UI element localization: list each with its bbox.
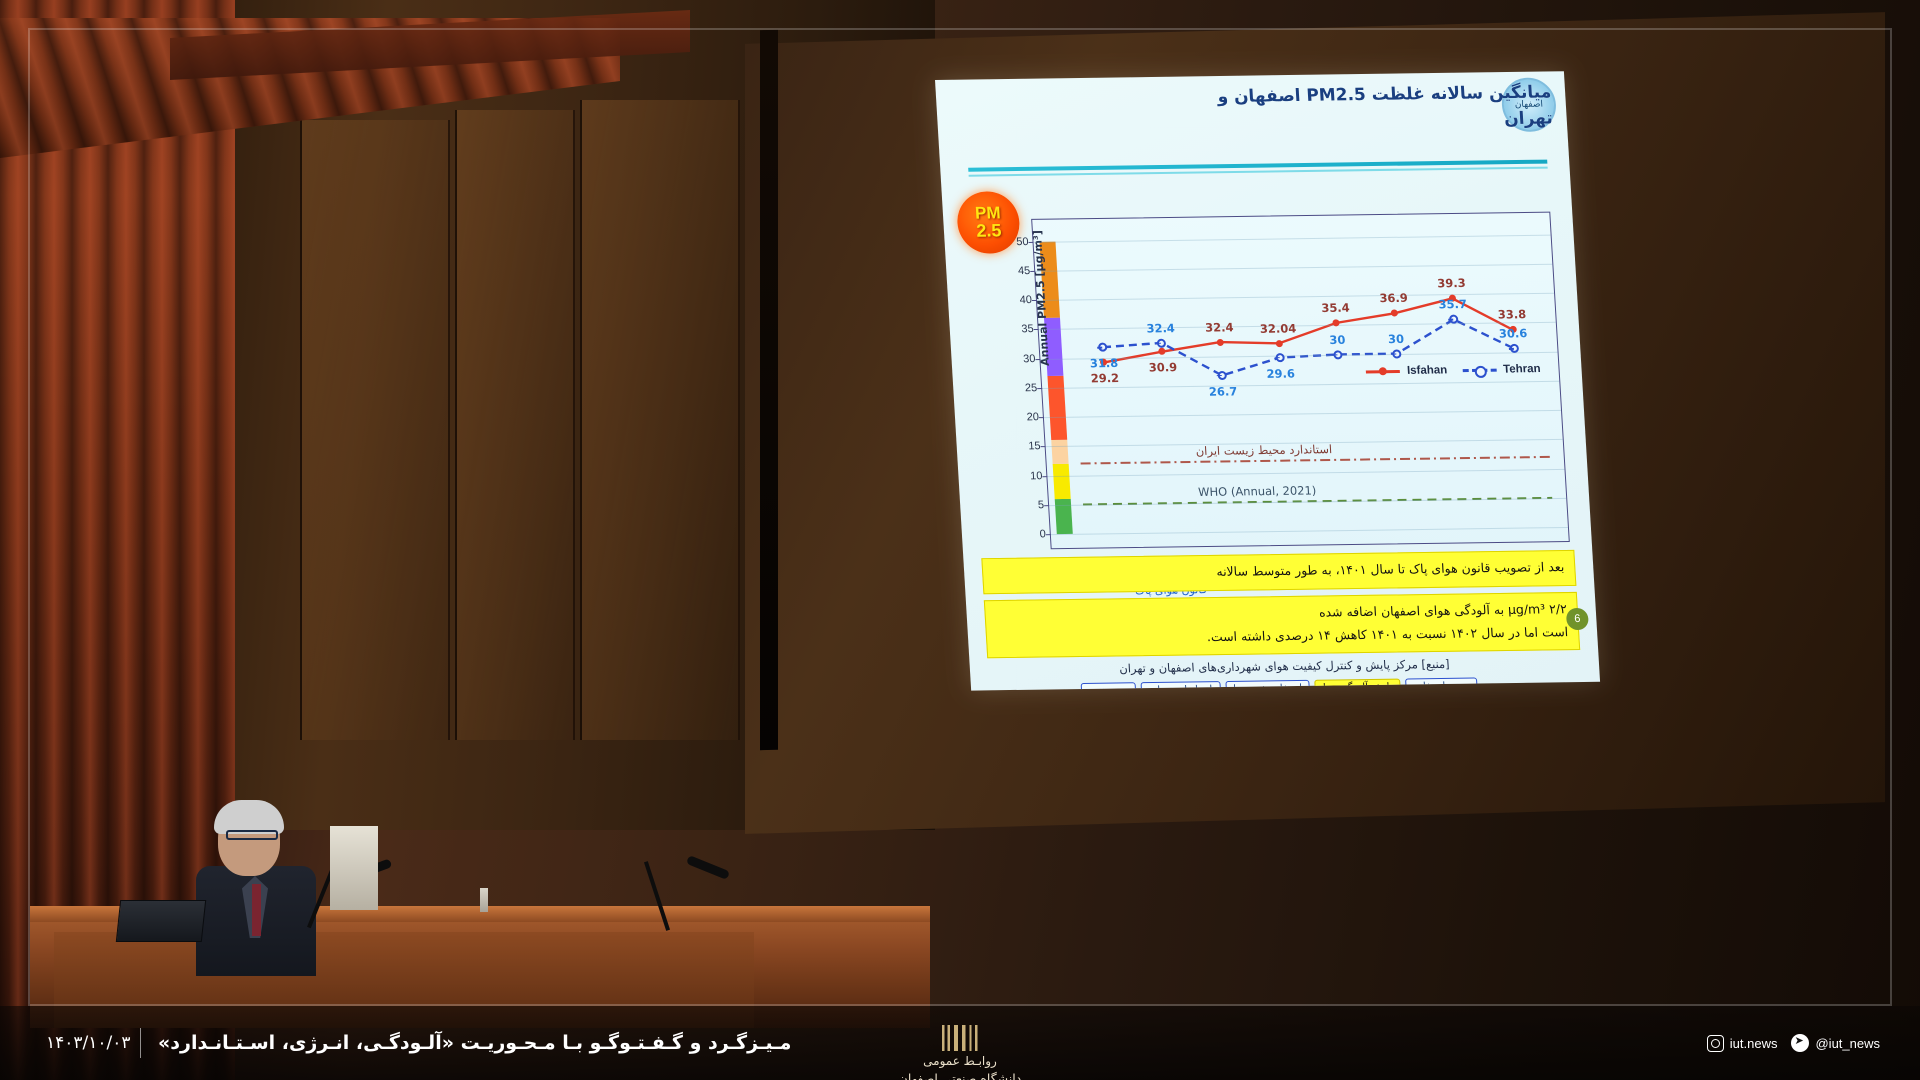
y-tick-mark [1042, 476, 1047, 477]
screenshot-root: اصفهان میانگین سالانه غلظت PM2.5 اصفهان … [0, 0, 1920, 1080]
wood-panel [455, 110, 575, 740]
y-axis-tick: 15 [1028, 440, 1041, 452]
y-tick-mark [1039, 417, 1044, 418]
speaker-hair [214, 800, 284, 834]
data-point-label: 35.7 [1438, 297, 1467, 311]
data-point [1158, 348, 1165, 355]
data-point-label: 35.4 [1321, 301, 1350, 315]
y-tick-mark [1034, 329, 1039, 330]
legend-swatch-tehran [1462, 368, 1496, 371]
annotation-text-1: بعد از تصویب قانون هوای پاک تا سال ۱۴۰۱،… [1216, 559, 1565, 579]
pm25-chart: Annual PM2.5 [μg/m³] Isfahan Tehran استا… [1031, 212, 1570, 550]
legend-label-tehran: Tehran [1503, 363, 1541, 376]
caption-bar: ۱۴۰۳/۱۰/۰۳ مـیـزگـرد و گـفـتـوگـو بـا مـ… [0, 1006, 1920, 1080]
telegram-handle: @iut_news [1815, 1036, 1880, 1051]
data-point-label: 36.9 [1379, 291, 1408, 305]
university-emblem-icon [940, 1025, 980, 1051]
annotation-box-top: بعد از تصویب قانون هوای پاک تا سال ۱۴۰۱،… [981, 550, 1576, 594]
data-point [1217, 371, 1227, 380]
flipchart-board [330, 826, 378, 910]
y-tick-mark [1037, 388, 1042, 389]
data-point-label: 30.9 [1148, 360, 1177, 374]
reference-label-who: WHO (Annual, 2021) [1198, 483, 1317, 499]
y-axis-tick: 45 [1018, 265, 1031, 277]
data-point [1275, 353, 1285, 362]
data-point-label: 30.6 [1499, 326, 1528, 340]
legend-swatch-isfahan [1366, 370, 1400, 373]
data-point-label: 39.3 [1437, 276, 1466, 290]
chart-legend: Isfahan Tehran [1366, 363, 1541, 377]
data-point [1509, 344, 1519, 353]
data-point-label: 32.4 [1205, 320, 1234, 334]
table-object [480, 888, 488, 912]
speaker-tie [252, 884, 261, 936]
data-point-label: 32.4 [1146, 321, 1175, 335]
y-tick-mark [1044, 505, 1049, 506]
y-axis-tick: 40 [1019, 294, 1032, 306]
y-tick-mark [1030, 271, 1035, 272]
y-axis-tick: 10 [1030, 470, 1043, 482]
data-point-label: 30 [1388, 332, 1405, 346]
y-tick-mark [1035, 359, 1040, 360]
legend-label-isfahan: Isfahan [1407, 364, 1448, 377]
data-point-label: 29.6 [1266, 366, 1295, 380]
source-note: [منبع] مرکز پایش و کنترل کیفیت هوای شهرد… [970, 655, 1600, 678]
wood-panel [300, 120, 450, 740]
data-point [1157, 338, 1167, 347]
y-axis-tick: 30 [1023, 353, 1036, 365]
caption-title: مـیـزگـرد و گـفـتـوگـو بـا مـحـوریـت «آل… [158, 1032, 791, 1054]
data-point-label: 32.04 [1259, 321, 1296, 336]
wood-panel [580, 100, 740, 740]
reference-line [1081, 457, 1550, 464]
data-point-label: 29.2 [1090, 371, 1119, 385]
y-axis-tick: 50 [1016, 236, 1029, 248]
data-point-label: 31.8 [1089, 356, 1118, 370]
speaker-person [196, 804, 316, 964]
data-point [1098, 343, 1108, 352]
data-point [1333, 319, 1340, 326]
y-tick-mark [1046, 534, 1051, 535]
social-links: iut.news @iut_news [1707, 1034, 1880, 1052]
telegram-link[interactable]: @iut_news [1791, 1034, 1880, 1052]
y-tick-mark [1041, 446, 1046, 447]
data-point [1392, 349, 1402, 358]
y-axis-tick: 20 [1026, 411, 1039, 423]
data-point [1391, 310, 1398, 317]
telegram-icon [1791, 1034, 1809, 1052]
y-axis-tick: 25 [1025, 382, 1038, 394]
y-axis-tick: 35 [1021, 323, 1034, 335]
data-point-label: 26.7 [1208, 384, 1237, 398]
y-tick-mark [1029, 242, 1034, 243]
laptop [116, 900, 206, 942]
data-point-label: 30 [1329, 332, 1346, 346]
pm-badge-top: PM [975, 204, 1001, 222]
pm25-badge-icon: PM 2.5 [956, 191, 1022, 254]
pm-badge-bottom: 2.5 [976, 222, 1002, 241]
caption-org-line2: دانشگاه صنعتی اصفهان [899, 1071, 1022, 1080]
slide-title: میانگین سالانه غلظت PM2.5 اصفهان و تهران [1011, 79, 1553, 139]
slide-page-number: 6 [1566, 608, 1589, 630]
caption-separator [140, 1028, 141, 1058]
caption-org-line1: روابـط عمومی [899, 1054, 1022, 1068]
caption-organization: روابـط عمومی دانشگاه صنعتی اصفهان [899, 1025, 1022, 1080]
data-point-label: 33.8 [1497, 308, 1526, 322]
projected-slide: اصفهان میانگین سالانه غلظت PM2.5 اصفهان … [935, 71, 1600, 690]
annotation-box-bottom: ۲/۲ μg/m³ به آلودگی هوای اصفهان اضافه شد… [984, 592, 1580, 658]
data-point [1275, 340, 1282, 347]
speaker-glasses-icon [226, 830, 278, 840]
y-tick-mark [1032, 300, 1037, 301]
data-point [1334, 350, 1344, 359]
caption-date: ۱۴۰۳/۱۰/۰۳ [46, 1033, 131, 1053]
data-point [1449, 315, 1459, 324]
screen-edge [760, 30, 778, 750]
instagram-handle: iut.news [1730, 1036, 1778, 1051]
instagram-link[interactable]: iut.news [1707, 1035, 1778, 1052]
instagram-icon [1707, 1035, 1724, 1052]
data-point [1216, 339, 1223, 346]
